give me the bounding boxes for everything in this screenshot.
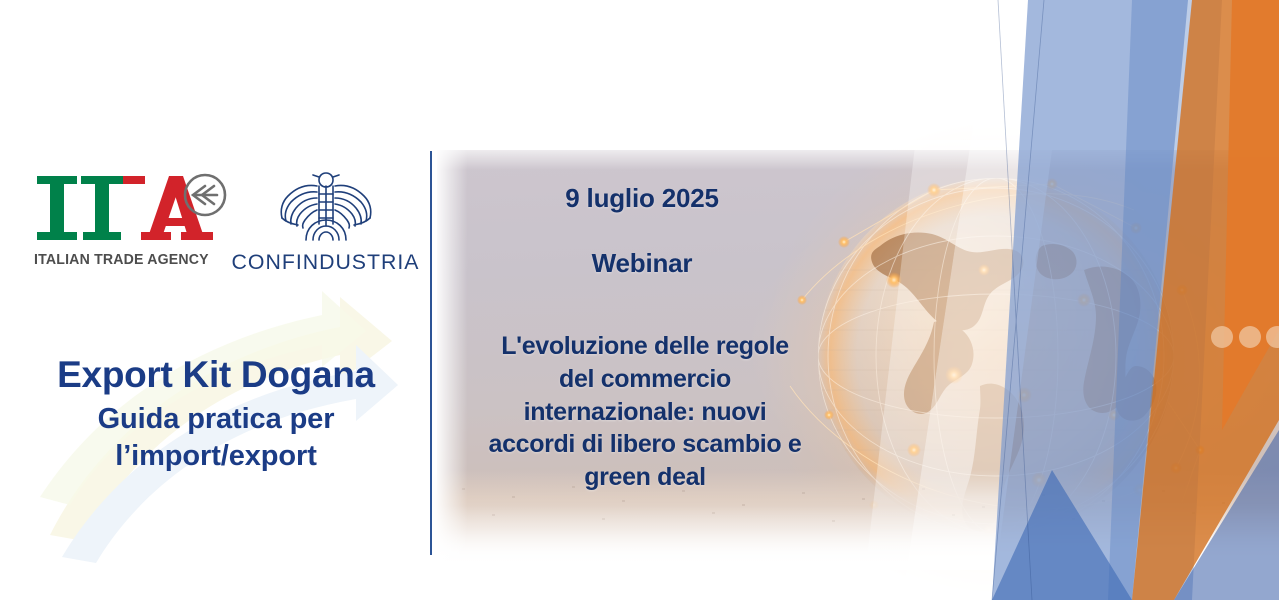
ita-subtitle: ITALIAN TRADE AGENCY bbox=[34, 251, 209, 268]
globe-photo bbox=[432, 0, 1279, 600]
event-description-line: del commercio bbox=[430, 363, 860, 396]
event-description-line: accordi di libero scambio e bbox=[430, 428, 860, 461]
event-description: L'evoluzione delle regole del commercio … bbox=[430, 330, 860, 494]
confindustria-wordmark: CONFINDUSTRIA bbox=[224, 250, 427, 275]
event-description-line: internazionale: nuovi bbox=[430, 396, 860, 429]
event-date: 9 luglio 2025 bbox=[432, 183, 852, 214]
page-title: Export Kit Dogana bbox=[0, 355, 432, 394]
ita-letters-icon bbox=[33, 170, 233, 248]
page-subtitle-line-2: l’import/export bbox=[0, 438, 432, 475]
event-type: Webinar bbox=[432, 248, 852, 279]
confindustria-logo: CONFINDUSTRIA bbox=[223, 168, 428, 283]
ita-logo: ITALIAN TRADE AGENCY bbox=[33, 170, 233, 280]
logo-row: ITALIAN TRADE AGENCY bbox=[0, 165, 432, 285]
page-subtitle-line-1: Guida pratica per bbox=[0, 401, 432, 438]
title-block: Export Kit Dogana Guida pratica per l’im… bbox=[0, 355, 432, 475]
event-description-line: green deal bbox=[430, 461, 860, 494]
event-description-line: L'evoluzione delle regole bbox=[430, 330, 860, 363]
webinar-banner: ITALIAN TRADE AGENCY bbox=[0, 0, 1279, 600]
eagle-icon bbox=[272, 168, 380, 248]
ice-circular-icon bbox=[185, 175, 225, 215]
left-panel: ITALIAN TRADE AGENCY bbox=[0, 0, 432, 600]
